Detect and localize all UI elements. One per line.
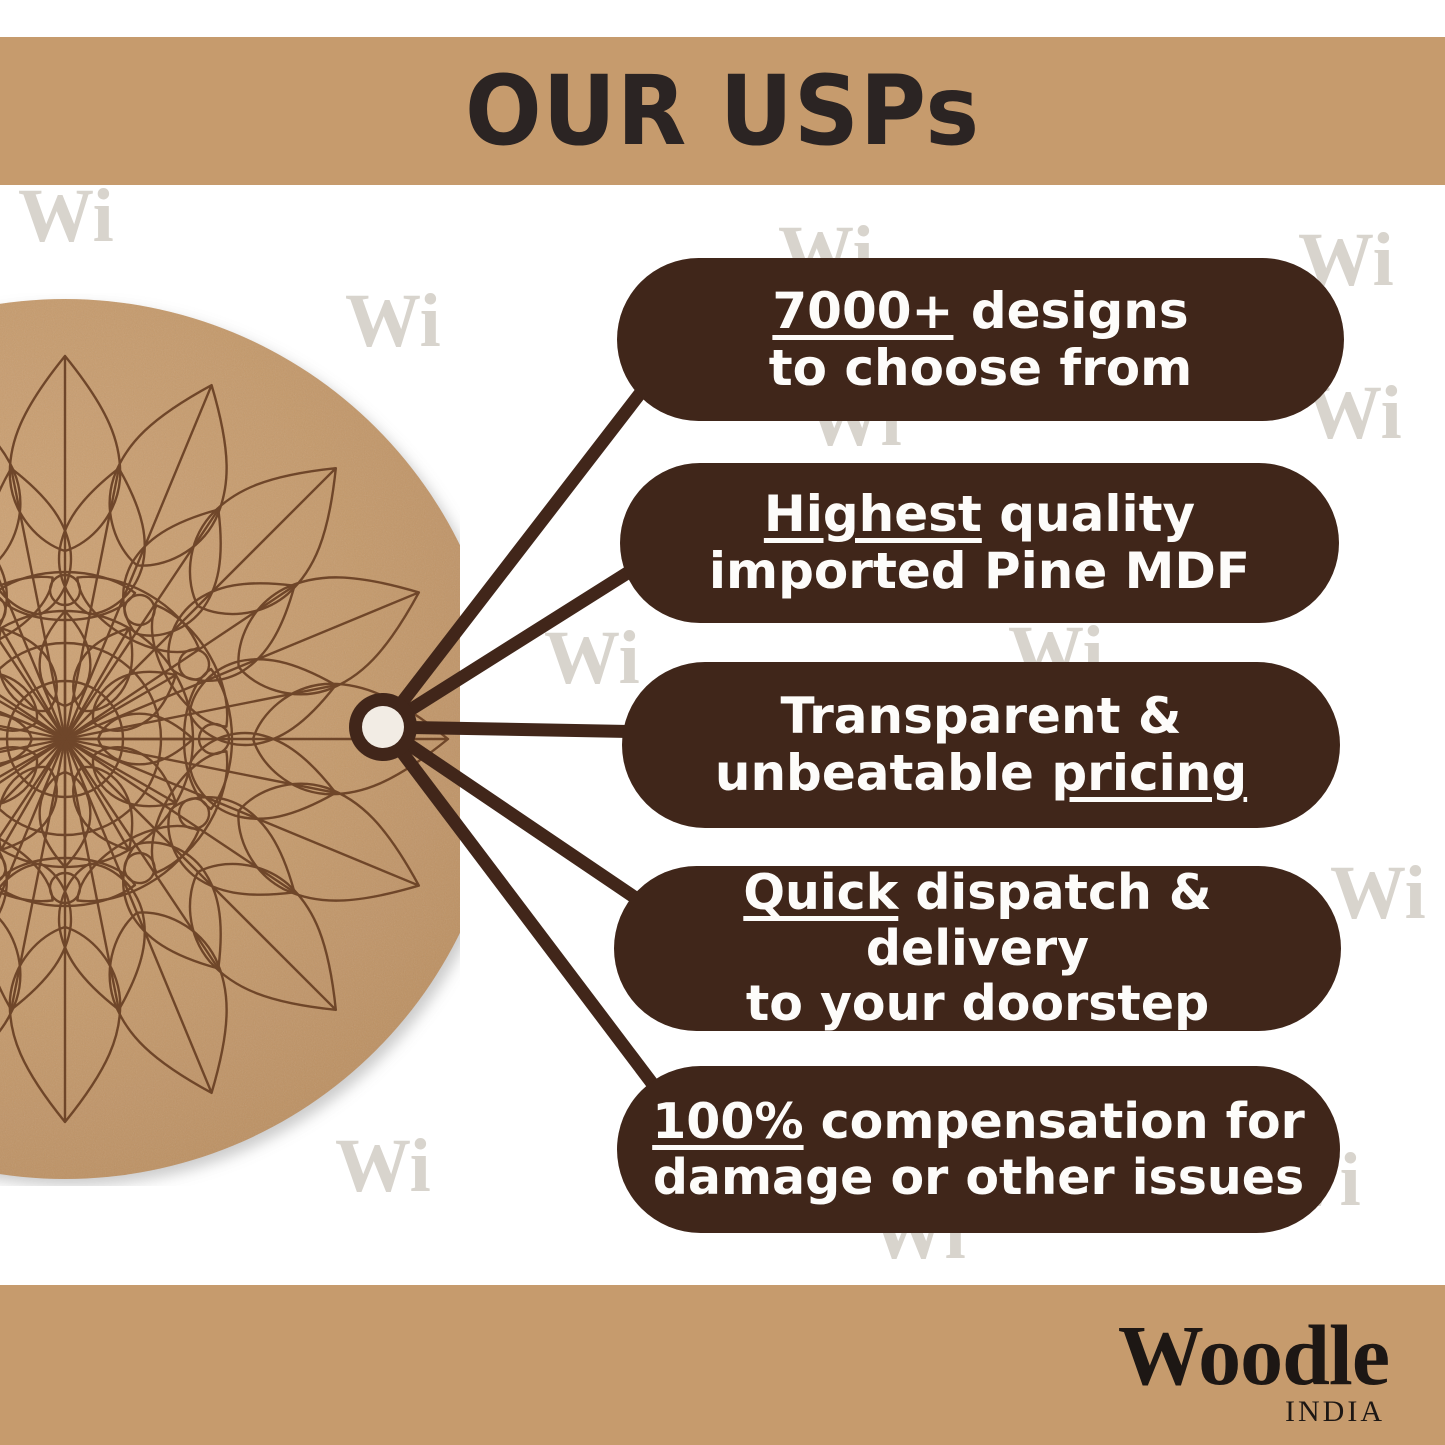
usp-pill-text: 100% compensation for damage or other is… (652, 1094, 1305, 1206)
usp-highlight: Quick (743, 864, 898, 921)
usp-line2: to your doorstep (746, 975, 1209, 1032)
usp-highlight: pricing (1051, 744, 1247, 802)
usp-line1-post: dispatch & delivery (866, 864, 1212, 977)
brand-name: Woodle (1118, 1316, 1389, 1395)
usp-line2: imported Pine MDF (709, 542, 1250, 600)
usp-pill-text: Transparent & unbeatable pricing (715, 688, 1247, 802)
usp-line1: Transparent & (781, 687, 1182, 745)
page-title: OUR USPs (43, 37, 1401, 185)
usp-pill-text: Highest quality imported Pine MDF (709, 486, 1250, 600)
connector-line-quality (383, 560, 648, 727)
connector-line-dispatch (383, 727, 646, 905)
usp-highlight: 100% (652, 1093, 803, 1150)
usp-pill-dispatch[interactable]: Quick dispatch & delivery to your doorst… (614, 866, 1341, 1031)
usp-pill-text: 7000+ designs to choose from (769, 283, 1193, 397)
infographic-canvas: Wi Wi Wi Wi Wi Wi Wi Wi Wi Wi Wi Wi (0, 0, 1445, 1445)
usp-pill-text: Quick dispatch & delivery to your doorst… (640, 865, 1315, 1033)
connector-line-pricing (383, 727, 660, 732)
usp-line1-post: quality (982, 485, 1195, 543)
usp-pill-quality[interactable]: Highest quality imported Pine MDF (620, 463, 1339, 623)
usp-line2: to choose from (769, 339, 1193, 397)
usp-highlight: Highest (764, 485, 982, 543)
usp-line2-pre: unbeatable (715, 744, 1052, 802)
usp-pill-pricing[interactable]: Transparent & unbeatable pricing (622, 662, 1340, 828)
usp-line1-post: compensation for (804, 1093, 1305, 1150)
usp-highlight: 7000+ (772, 282, 953, 340)
usp-line2: damage or other issues (653, 1149, 1304, 1206)
hub-node-center (362, 706, 404, 748)
usp-pill-designs[interactable]: 7000+ designs to choose from (617, 258, 1344, 421)
brand-logo: Woodle INDIA (1118, 1316, 1389, 1427)
usp-line1-post: designs (953, 282, 1188, 340)
usp-pill-compensation[interactable]: 100% compensation for damage or other is… (617, 1066, 1340, 1233)
